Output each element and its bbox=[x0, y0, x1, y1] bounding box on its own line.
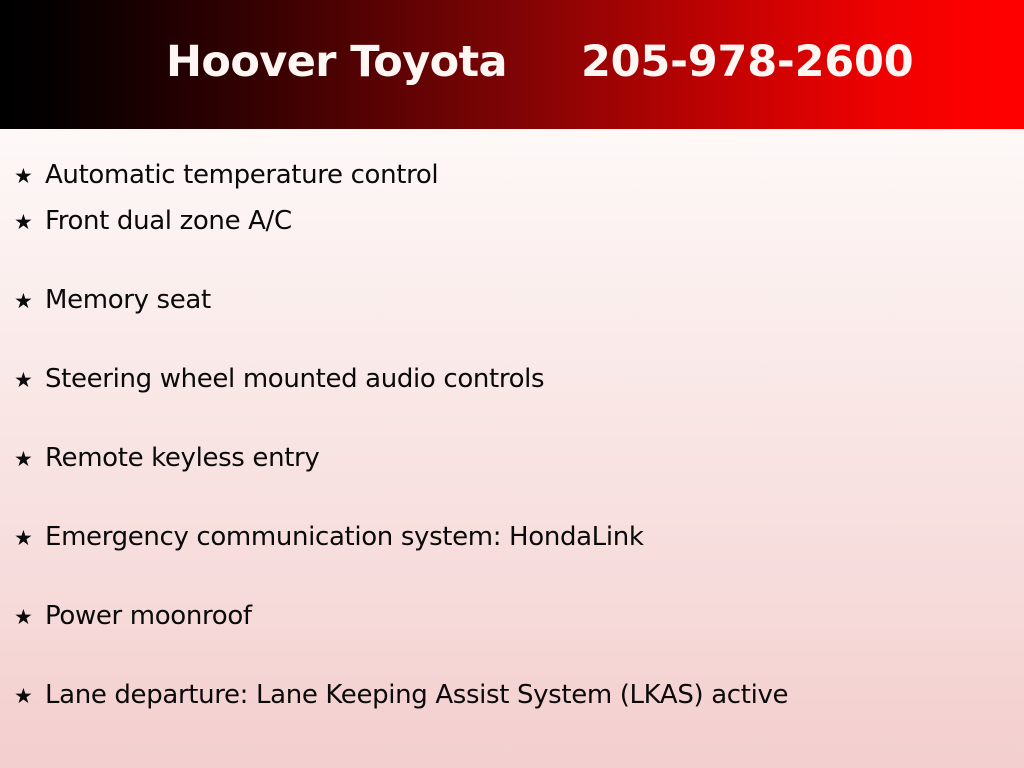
feature-label: Front dual zone A/C bbox=[45, 208, 292, 234]
feature-list-item: ★Automatic temperature control bbox=[0, 129, 1024, 208]
star-bullet-icon: ★ bbox=[14, 528, 45, 549]
feature-label: Power moonroof bbox=[45, 603, 252, 629]
star-bullet-icon: ★ bbox=[14, 212, 45, 233]
feature-list-item: ★Memory seat bbox=[0, 287, 1024, 366]
star-bullet-icon: ★ bbox=[14, 607, 45, 628]
star-bullet-icon: ★ bbox=[14, 166, 45, 187]
dealer-header-content: Hoover Toyota 205-978-2600 bbox=[0, 0, 1024, 129]
feature-list-item: ★Front dual zone A/C bbox=[0, 208, 1024, 287]
dealer-header-banner: Hoover Toyota 205-978-2600 bbox=[0, 0, 1024, 129]
dealer-phone-number[interactable]: 205-978-2600 bbox=[581, 41, 914, 84]
star-bullet-icon: ★ bbox=[14, 449, 45, 470]
vehicle-feature-list: ★Automatic temperature control★Front dua… bbox=[0, 129, 1024, 761]
feature-label: Emergency communication system: HondaLin… bbox=[45, 524, 644, 550]
feature-slide: Hoover Toyota 205-978-2600 ★Automatic te… bbox=[0, 0, 1024, 768]
feature-list-item: ★Power moonroof bbox=[0, 603, 1024, 682]
feature-label: Remote keyless entry bbox=[45, 445, 319, 471]
feature-label: Memory seat bbox=[45, 287, 211, 313]
feature-list-item: ★Steering wheel mounted audio controls bbox=[0, 366, 1024, 445]
star-bullet-icon: ★ bbox=[14, 291, 45, 312]
star-bullet-icon: ★ bbox=[14, 370, 45, 391]
feature-list-item: ★Emergency communication system: HondaLi… bbox=[0, 524, 1024, 603]
feature-label: Automatic temperature control bbox=[45, 162, 438, 188]
feature-label: Lane departure: Lane Keeping Assist Syst… bbox=[45, 682, 788, 708]
dealer-name: Hoover Toyota bbox=[166, 41, 507, 84]
feature-label: Steering wheel mounted audio controls bbox=[45, 366, 544, 392]
feature-list-item: ★Lane departure: Lane Keeping Assist Sys… bbox=[0, 682, 1024, 761]
feature-list-item: ★Remote keyless entry bbox=[0, 445, 1024, 524]
star-bullet-icon: ★ bbox=[14, 686, 45, 707]
